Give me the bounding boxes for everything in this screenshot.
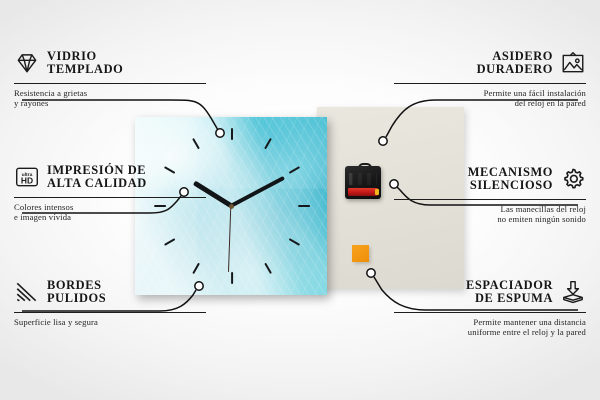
- feature-header: MECANISMO SILENCIOSO: [394, 162, 586, 196]
- feature-title: IMPRESIÓN DE ALTA CALIDAD: [47, 164, 147, 191]
- feature-description: Permite una fácil instalación del reloj …: [394, 88, 586, 109]
- feature-header: BORDES PULIDOS: [14, 275, 206, 309]
- feature-asidero-duradero: ASIDERO DURADERO Permite una fácil insta…: [394, 46, 586, 109]
- clock-mechanism: [345, 163, 381, 199]
- feature-header: VIDRIO TEMPLADO: [14, 46, 206, 80]
- hour-marker: [231, 128, 233, 140]
- mechanism-body: [345, 166, 381, 199]
- svg-text:HD: HD: [21, 176, 33, 186]
- feature-title: BORDES PULIDOS: [47, 279, 106, 306]
- polished-edges-icon: [14, 279, 40, 305]
- clock-hand-cap: [229, 204, 234, 209]
- feature-divider: [394, 83, 586, 84]
- feature-divider: [394, 312, 586, 313]
- feature-description: Las manecillas del reloj no emiten ningú…: [394, 204, 586, 225]
- feature-header: ASIDERO DURADERO: [394, 46, 586, 80]
- feature-mecanismo-silencioso: MECANISMO SILENCIOSO Las manecillas del …: [394, 162, 586, 225]
- feature-impresion-alta-calidad: ultra HD IMPRESIÓN DE ALTA CALIDAD Color…: [14, 160, 206, 223]
- ultra-hd-badge-icon: ultra HD: [14, 164, 40, 190]
- hour-marker: [231, 272, 233, 284]
- product-infographic: VIDRIO TEMPLADO Resistencia a grietas y …: [0, 0, 600, 400]
- feature-divider: [14, 312, 206, 313]
- feature-header: ESPACIADOR DE ESPUMA: [394, 275, 586, 309]
- feature-espaciador-de-espuma: ESPACIADOR DE ESPUMA Permite mantener un…: [394, 275, 586, 338]
- foam-spacer-icon: [560, 279, 586, 305]
- feature-divider: [14, 83, 206, 84]
- feature-bordes-pulidos: BORDES PULIDOS Superficie lisa y segura: [14, 275, 206, 327]
- hour-marker: [298, 205, 310, 207]
- feature-divider: [14, 197, 206, 198]
- diamond-icon: [14, 50, 40, 76]
- feature-description: Colores intensos e imagen vívida: [14, 202, 206, 223]
- feature-description: Permite mantener una distancia uniforme …: [394, 317, 586, 338]
- feature-title: ASIDERO DURADERO: [477, 50, 553, 77]
- mechanism-battery: [348, 188, 378, 196]
- picture-hanger-icon: [560, 50, 586, 76]
- feature-title: VIDRIO TEMPLADO: [47, 50, 123, 77]
- foam-spacer-part: [352, 245, 369, 262]
- mechanism-housing-detail: [349, 173, 377, 185]
- feature-description: Superficie lisa y segura: [14, 317, 206, 327]
- feature-description: Resistencia a grietas y rayones: [14, 88, 206, 109]
- feature-divider: [394, 199, 586, 200]
- gear-icon: [560, 166, 586, 192]
- feature-vidrio-templado: VIDRIO TEMPLADO Resistencia a grietas y …: [14, 46, 206, 109]
- feature-title: MECANISMO SILENCIOSO: [468, 166, 553, 193]
- feature-header: ultra HD IMPRESIÓN DE ALTA CALIDAD: [14, 160, 206, 194]
- feature-title: ESPACIADOR DE ESPUMA: [466, 279, 553, 306]
